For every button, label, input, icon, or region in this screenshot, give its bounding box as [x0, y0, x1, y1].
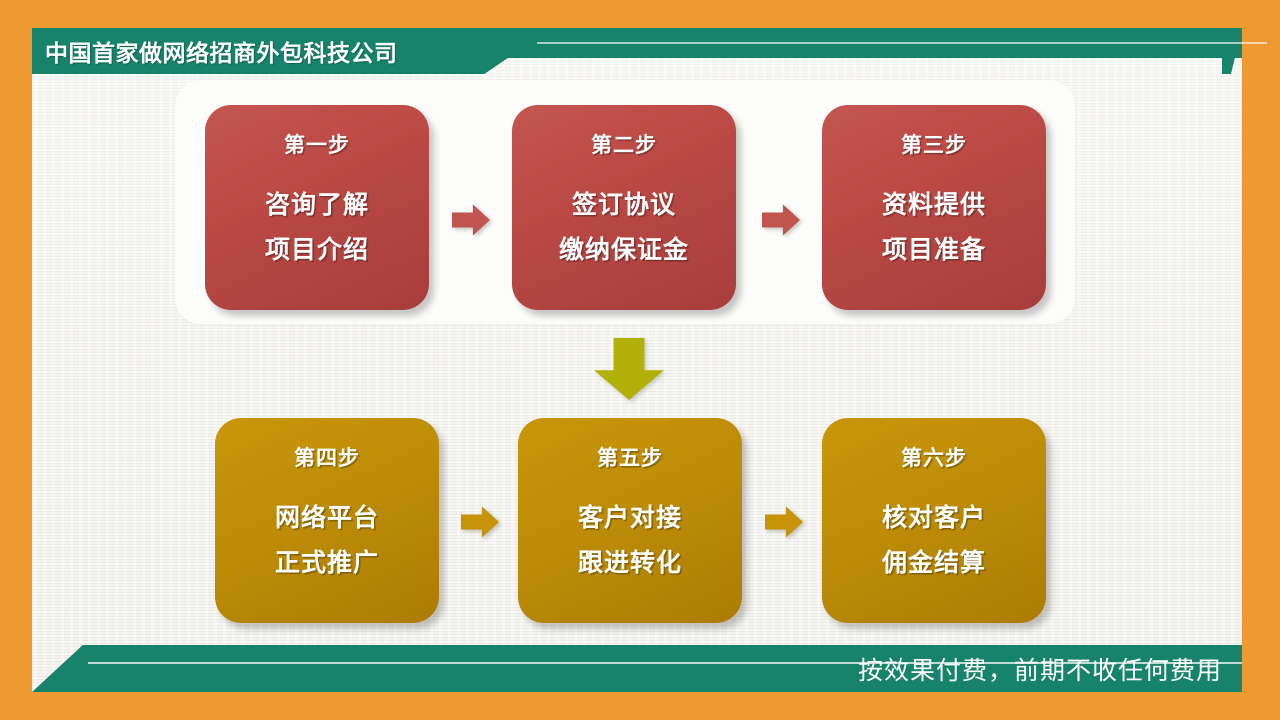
arrow-right-icon-1 [452, 203, 490, 237]
arrow-right-icon-4 [765, 505, 803, 539]
step-card-2-line2: 缴纳保证金 [559, 230, 689, 266]
footer-banner: 按效果付费，前期不收任何费用 [32, 645, 1242, 692]
step-card-2-title: 第二步 [591, 129, 657, 159]
step-card-6-line2: 佣金结算 [882, 543, 986, 579]
step-card-6[interactable]: 第六步 核对客户 佣金结算 [822, 418, 1046, 623]
arrow-down-icon [594, 338, 664, 400]
step-card-4[interactable]: 第四步 网络平台 正式推广 [215, 418, 439, 623]
step-card-6-line1: 核对客户 [882, 498, 986, 534]
step-card-5-lines: 客户对接 跟进转化 [578, 498, 682, 579]
slide: 中国首家做网络招商外包科技公司 第一步 咨询了解 项目介绍 第二步 签订协议 缴… [0, 0, 1280, 720]
step-card-2-line1: 签订协议 [572, 185, 676, 221]
footer-tagline: 按效果付费，前期不收任何费用 [858, 645, 1222, 692]
step-card-3-lines: 资料提供 项目准备 [882, 185, 986, 266]
step-card-3-title: 第三步 [901, 129, 967, 159]
step-card-5[interactable]: 第五步 客户对接 跟进转化 [518, 418, 742, 623]
step-card-1-line2: 项目介绍 [265, 230, 369, 266]
step-card-6-title: 第六步 [901, 442, 967, 472]
step-card-5-line2: 跟进转化 [578, 543, 682, 579]
step-card-1[interactable]: 第一步 咨询了解 项目介绍 [205, 105, 429, 310]
arrow-right-icon-2 [762, 203, 800, 237]
step-card-2-lines: 签订协议 缴纳保证金 [559, 185, 689, 266]
step-card-3-line2: 项目准备 [882, 230, 986, 266]
step-card-4-line1: 网络平台 [275, 498, 379, 534]
step-card-1-lines: 咨询了解 项目介绍 [265, 185, 369, 266]
arrow-right-icon-3 [461, 505, 499, 539]
step-card-3-line1: 资料提供 [882, 185, 986, 221]
step-card-4-title: 第四步 [294, 442, 360, 472]
step-card-4-line2: 正式推广 [275, 543, 379, 579]
page-title: 中国首家做网络招商外包科技公司 [45, 28, 398, 74]
step-card-6-lines: 核对客户 佣金结算 [882, 498, 986, 579]
step-card-3[interactable]: 第三步 资料提供 项目准备 [822, 105, 1046, 310]
step-card-1-title: 第一步 [284, 129, 350, 159]
step-card-5-line1: 客户对接 [578, 498, 682, 534]
step-card-4-lines: 网络平台 正式推广 [275, 498, 379, 579]
step-card-1-line1: 咨询了解 [265, 185, 369, 221]
step-card-5-title: 第五步 [597, 442, 663, 472]
step-card-2[interactable]: 第二步 签订协议 缴纳保证金 [512, 105, 736, 310]
